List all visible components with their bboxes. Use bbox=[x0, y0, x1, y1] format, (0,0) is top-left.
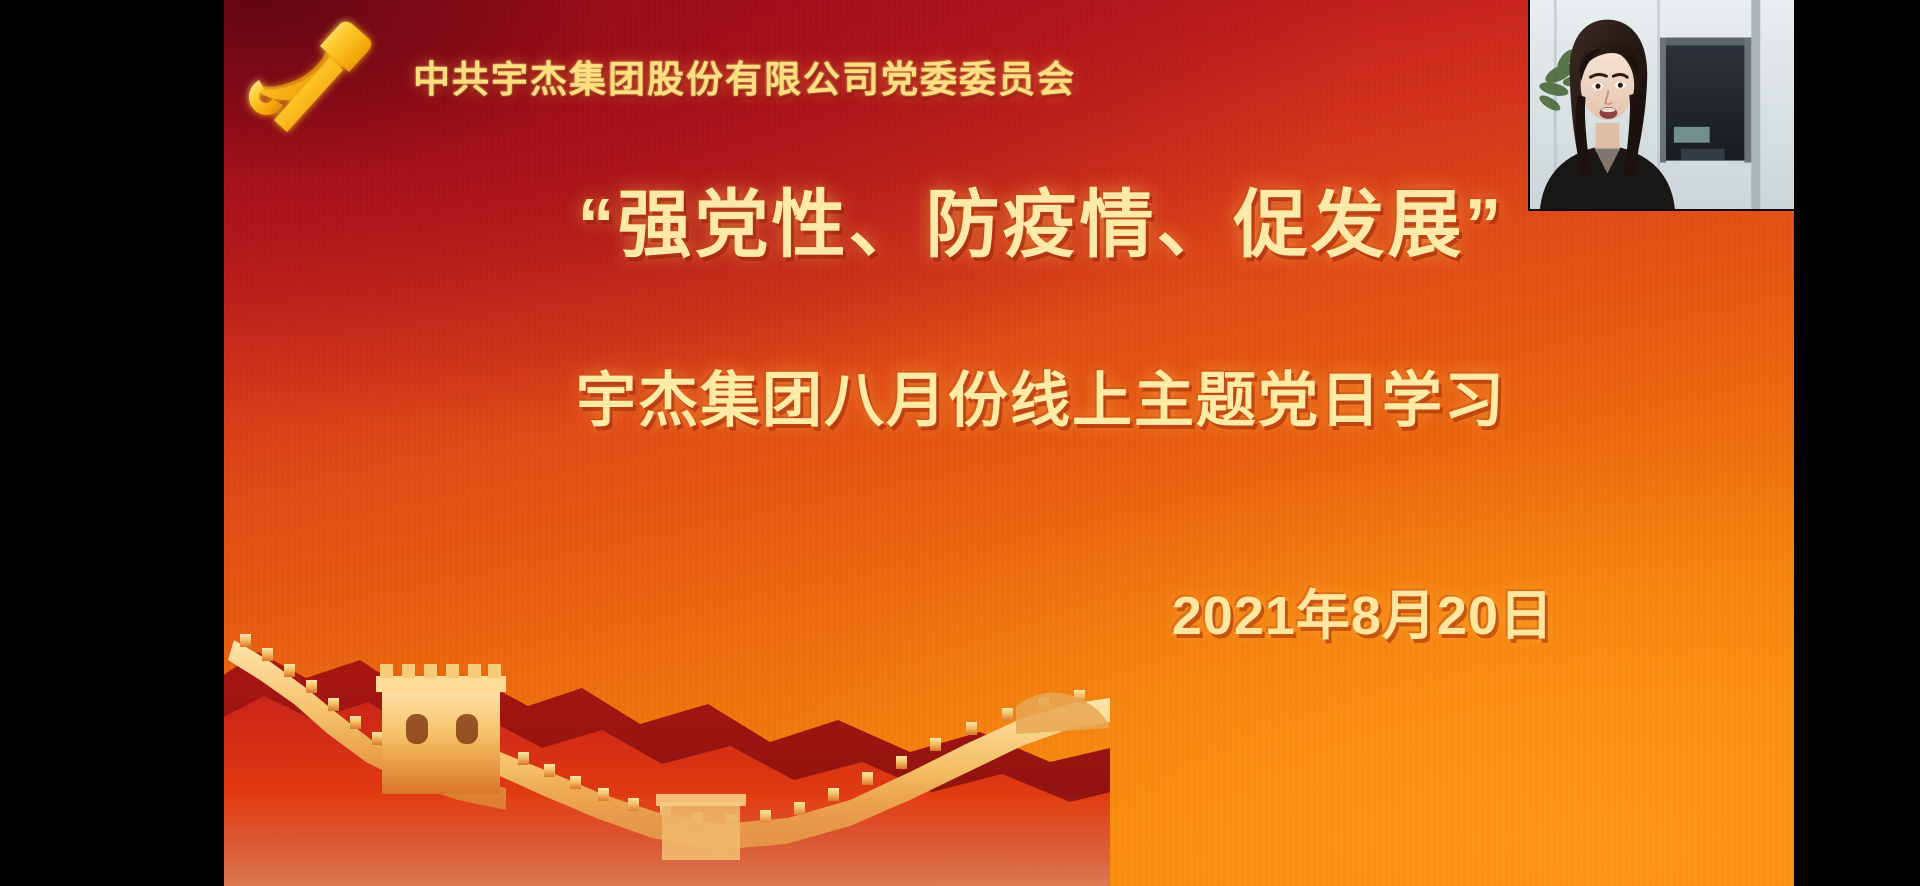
slide-main-title: “强党性、防疫情、促发展” bbox=[374, 182, 1708, 268]
webcam-video-frame bbox=[1530, 0, 1794, 209]
slide-sub-title: 宇杰集团八月份线上主题党日学习 bbox=[374, 352, 1708, 439]
slide-body: “强党性、防疫情、促发展” 宇杰集团八月份线上主题党日学习 2021年8月20日 bbox=[224, 182, 1794, 650]
slide-header: 中共宇杰集团股份有限公司党委委员会 bbox=[224, 16, 1076, 136]
slide-event-date: 2021年8月20日 bbox=[374, 571, 1708, 650]
letterbox-right bbox=[1794, 0, 1920, 886]
letterbox-left bbox=[0, 0, 224, 886]
organization-name: 中共宇杰集团股份有限公司党委委员会 bbox=[413, 49, 1076, 103]
meeting-stage: 中共宇杰集团股份有限公司党委委员会 “强党性、防疫情、促发展” 宇杰集团八月份线… bbox=[0, 0, 1920, 886]
cpc-party-emblem-icon bbox=[234, 16, 389, 136]
participant-webcam-thumbnail[interactable] bbox=[1528, 0, 1794, 211]
